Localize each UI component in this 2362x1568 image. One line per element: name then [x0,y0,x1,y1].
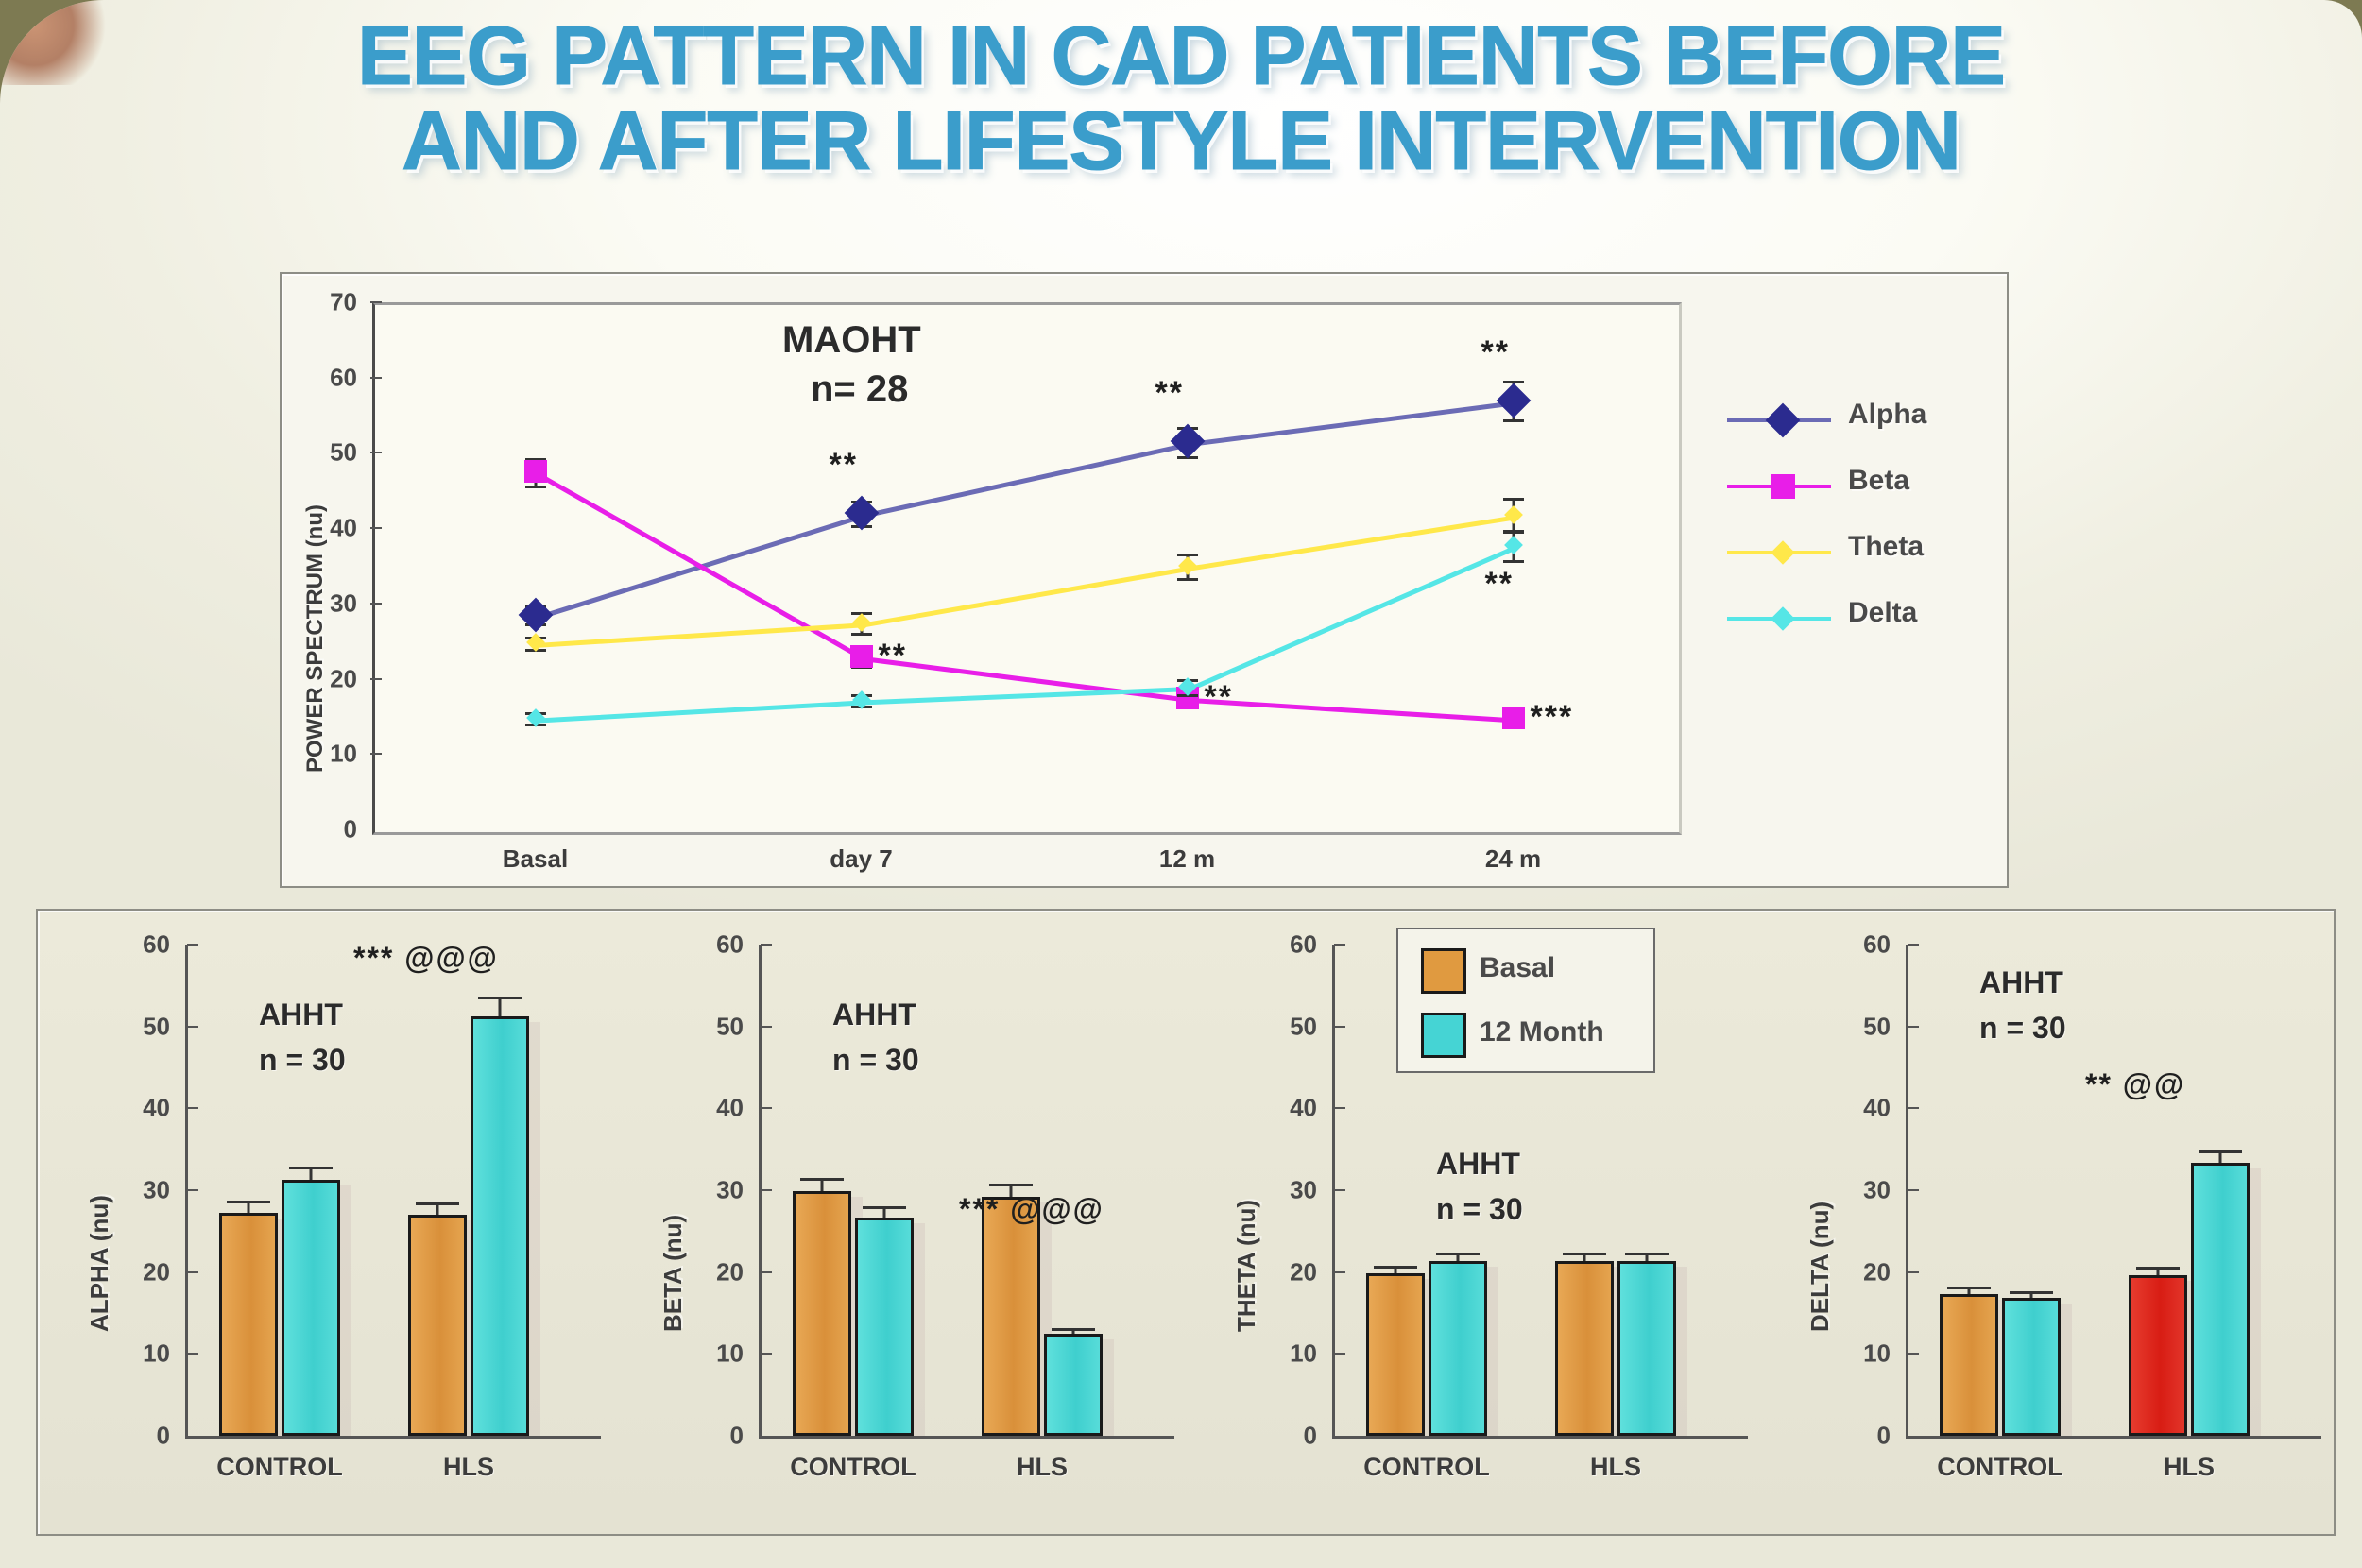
significance-alpha-1: ** [830,449,858,481]
bar-n-label: n = 30 [1979,1011,2066,1046]
x-tick-label-0: Basal [503,844,568,874]
marker-beta-3 [1502,707,1525,729]
significance-marker: ** @@ [2085,1069,2185,1099]
error-cap [2199,1150,2242,1153]
bar-hls-basal [2129,1275,2187,1436]
bar-control-basal [219,1213,278,1436]
significance-beta-3: *** [1531,701,1574,733]
bar-hls-12month [1044,1334,1103,1436]
y-tick-label-10: 10 [676,1339,744,1369]
legend-marker-beta [1771,474,1795,499]
y-axis-label: DELTA (nu) [1806,1202,1835,1332]
bar-control-12month [1429,1261,1487,1436]
y-tick-label-10: 10 [1249,1339,1317,1369]
bar-chart-delta-bar: 0102030405060DELTA (nu)AHHTn = 30CONTROL… [1773,911,2340,1534]
line-series-alpha [539,403,1516,618]
y-tick-40 [370,527,382,529]
y-tick-label-60: 60 [1823,930,1891,960]
bar-hls-basal [982,1197,1040,1436]
significance-beta-2: ** [1205,681,1233,713]
x-axis-line [759,1436,1174,1439]
bar-hls-12month [1617,1261,1676,1436]
y-tick-20 [370,678,382,680]
legend-item-theta[interactable]: Theta [1727,520,1992,586]
error-cap-top-theta-3 [1503,498,1524,501]
bar-chart-alpha-bar: 0102030405060ALPHA (nu)AHHTn = 30CONTROL… [53,911,620,1534]
y-tick-40 [187,1107,198,1109]
legend-label-12month: 12 Month [1480,1016,1604,1048]
legend-marker-alpha [1766,403,1801,438]
bar-n-label: n = 30 [259,1043,346,1078]
error-cap [1947,1287,1991,1289]
error-cap [478,997,522,999]
y-tick-60 [1908,944,1919,946]
line-n-label: n= 28 [811,368,908,411]
legend-label-delta: Delta [1848,597,1917,629]
line-series-paths [375,305,1679,832]
group-label-hls: HLS [443,1453,494,1482]
title-line-2: AND AFTER LIFESTYLE INTERVENTION [0,98,2362,183]
y-tick-20 [761,1271,772,1273]
y-tick-20 [187,1271,198,1273]
x-axis-line [185,1436,601,1439]
y-tick-label-10: 10 [102,1339,170,1369]
significance-alpha-3: ** [1481,336,1510,368]
y-tick-40 [761,1107,772,1109]
group-label-hls: HLS [2164,1453,2215,1482]
error-cap-bottom-theta-1 [851,633,872,636]
bar-control-12month [282,1180,340,1436]
y-tick-label-60: 60 [676,930,744,960]
group-label-control: CONTROL [1363,1453,1489,1482]
bar-group-label: AHHT [259,997,343,1032]
bar-charts-panel: 0102030405060ALPHA (nu)AHHTn = 30CONTROL… [36,909,2336,1536]
significance-alpha-2: ** [1155,377,1184,409]
y-tick-60 [187,944,198,946]
y-tick-label-10: 10 [1823,1339,1891,1369]
y-tick-label-70: 70 [295,288,357,317]
legend-label-alpha: Alpha [1848,399,1926,431]
error-cap-bottom-theta-2 [1177,578,1198,581]
bar-control-basal [793,1191,851,1436]
line-series-theta [539,518,1516,646]
error-cap-bottom-delta-3 [1503,560,1524,563]
y-tick-label-50: 50 [295,438,357,468]
y-tick-20 [1908,1271,1919,1273]
error-bar [499,997,502,1016]
error-cap [863,1206,906,1209]
y-tick-60 [1334,944,1345,946]
bar-n-label: n = 30 [832,1043,919,1078]
error-cap [1436,1253,1480,1255]
error-cap [1563,1253,1606,1255]
y-tick-50 [370,452,382,453]
x-axis-line [1332,1436,1748,1439]
bar-chart-theta-bar: 0102030405060THETA (nu)AHHTn = 30CONTROL… [1200,911,1767,1534]
y-tick-40 [1334,1107,1345,1109]
x-tick-label-1: day 7 [830,844,893,874]
bar-control-basal [1366,1273,1425,1436]
y-tick-20 [1334,1271,1345,1273]
line-group-label: MAOHT [782,319,921,362]
bar-chart-legend: Basal12 Month [1396,928,1655,1073]
y-tick-label-50: 50 [102,1012,170,1041]
y-tick-10 [187,1353,198,1355]
y-tick-50 [187,1026,198,1028]
significance-delta-3: ** [1485,568,1514,600]
error-cap [800,1178,844,1181]
y-axis-label: THETA (nu) [1232,1200,1261,1332]
y-tick-label-0: 0 [1249,1422,1317,1451]
error-cap [1052,1328,1095,1331]
y-axis-label: ALPHA (nu) [85,1195,114,1332]
bar-control-12month [2002,1298,2061,1436]
y-tick-70 [370,301,382,303]
y-tick-label-30: 30 [1823,1176,1891,1205]
y-tick-label-40: 40 [1249,1094,1317,1123]
legend-swatch-12month [1421,1013,1466,1058]
page-title: EEG PATTERN IN CAD PATIENTS BEFORE AND A… [0,13,2362,183]
bar-hls-basal [408,1215,467,1436]
error-cap [1625,1253,1669,1255]
bar-group-label: AHHT [1979,965,2063,1000]
legend-swatch-basal [1421,948,1466,994]
bar-n-label: n = 30 [1436,1192,1523,1227]
marker-beta-0 [524,460,547,483]
group-label-hls: HLS [1590,1453,1641,1482]
bar-group-label: AHHT [832,997,916,1032]
bar-hls-12month [471,1016,529,1436]
y-tick-label-30: 30 [676,1176,744,1205]
y-tick-label-40: 40 [1823,1094,1891,1123]
bar-hls-basal [1555,1261,1614,1436]
significance-marker: *** @@@ [959,1194,1104,1224]
y-tick-label-0: 0 [295,815,357,844]
y-axis-label: BETA (nu) [659,1215,688,1332]
bar-control-12month [855,1218,914,1436]
error-cap [1374,1266,1417,1269]
x-axis-line [1906,1436,2321,1439]
title-line-1: EEG PATTERN IN CAD PATIENTS BEFORE [0,13,2362,98]
presentation-slide: EEG PATTERN IN CAD PATIENTS BEFORE AND A… [0,0,2362,1568]
legend-item-delta[interactable]: Delta [1727,586,1992,652]
y-tick-50 [761,1026,772,1028]
y-tick-label-60: 60 [102,930,170,960]
y-tick-40 [1908,1107,1919,1109]
y-tick-30 [761,1189,772,1191]
error-cap [2136,1267,2180,1270]
y-tick-10 [1334,1353,1345,1355]
y-tick-30 [187,1189,198,1191]
legend-label-basal: Basal [1480,952,1555,984]
y-tick-50 [1334,1026,1345,1028]
marker-beta-1 [850,645,873,668]
y-tick-label-50: 50 [676,1012,744,1041]
y-tick-label-50: 50 [1823,1012,1891,1041]
bar-hls-12month [2191,1163,2250,1436]
y-axis-label: POWER SPECTRUM (nu) [302,504,329,773]
y-tick-label-60: 60 [295,363,357,392]
x-tick-label-3: 24 m [1485,844,1541,874]
y-tick-10 [1908,1353,1919,1355]
error-cap [227,1201,270,1203]
legend-label-beta: Beta [1848,465,1909,497]
y-tick-30 [1334,1189,1345,1191]
significance-beta-1: ** [879,639,907,672]
x-tick-label-2: 12 m [1159,844,1215,874]
error-cap-top-delta-3 [1503,530,1524,533]
group-label-control: CONTROL [790,1453,916,1482]
y-tick-label-40: 40 [676,1094,744,1123]
error-cap [2010,1291,2053,1294]
bar-group-label: AHHT [1436,1147,1520,1182]
significance-marker: *** @@@ [353,943,499,973]
y-tick-30 [1908,1189,1919,1191]
error-cap [989,1184,1033,1186]
y-tick-60 [370,377,382,379]
legend-item-alpha[interactable]: Alpha [1727,387,1992,453]
error-cap [416,1202,459,1205]
legend-marker-theta [1771,540,1794,564]
y-tick-label-40: 40 [102,1094,170,1123]
line-chart-panel: 010203040506070POWER SPECTRUM (nu)Basald… [280,272,2009,888]
y-tick-label-0: 0 [1823,1422,1891,1451]
line-chart-legend: AlphaBetaThetaDelta [1727,387,1992,652]
y-tick-label-0: 0 [676,1422,744,1451]
group-label-control: CONTROL [1937,1453,2062,1482]
group-label-hls: HLS [1017,1453,1068,1482]
y-tick-60 [761,944,772,946]
bar-chart-beta-bar: 0102030405060BETA (nu)AHHTn = 30CONTROLH… [626,911,1193,1534]
y-tick-label-0: 0 [102,1422,170,1451]
y-tick-10 [761,1353,772,1355]
error-cap-bottom-alpha-3 [1503,419,1524,422]
y-tick-50 [1908,1026,1919,1028]
legend-item-beta[interactable]: Beta [1727,453,1992,520]
y-tick-label-60: 60 [1249,930,1317,960]
error-cap-bottom-beta-0 [525,486,546,488]
y-tick-30 [370,603,382,605]
group-label-control: CONTROL [216,1453,342,1482]
y-tick-10 [370,753,382,755]
bar-control-basal [1940,1294,1998,1436]
legend-marker-delta [1771,606,1794,630]
error-cap [289,1167,333,1169]
legend-label-theta: Theta [1848,531,1924,563]
y-tick-label-50: 50 [1249,1012,1317,1041]
